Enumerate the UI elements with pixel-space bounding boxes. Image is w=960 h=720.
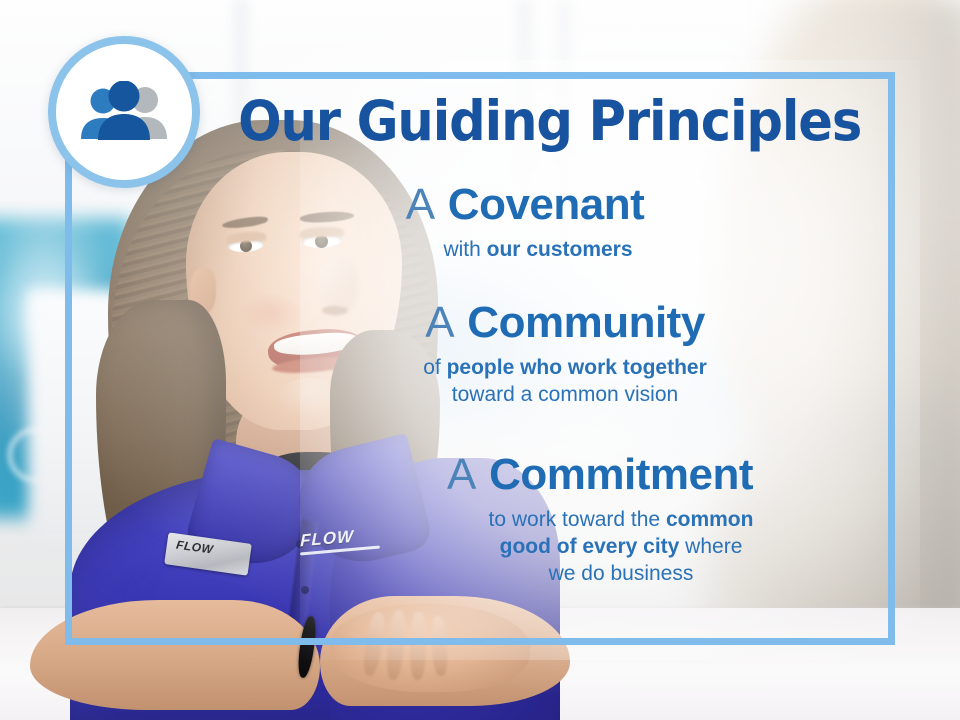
principle-community: A Community of people who work together … bbox=[255, 300, 875, 408]
subtext-line: good of every city where bbox=[347, 533, 895, 560]
subtext-part: people who work together bbox=[447, 356, 707, 379]
marketing-graphic: FLOW FLOW Our Guiding Pr bbox=[0, 0, 960, 720]
page-title: Our Guiding Principles bbox=[238, 94, 852, 149]
subtext-line: we do business bbox=[347, 560, 895, 587]
principle-subtext: with our customers bbox=[215, 236, 835, 263]
principle-covenant: A Covenant with our customers bbox=[215, 182, 835, 263]
subtext-part: where bbox=[679, 535, 742, 558]
principle-article: A bbox=[425, 298, 455, 347]
copy-block: Our Guiding Principles A Covenant with o… bbox=[65, 72, 895, 645]
subtext-line: of people who work together bbox=[255, 354, 875, 381]
subtext-line: toward a common vision bbox=[255, 381, 875, 408]
subtext-part: our customers bbox=[487, 238, 633, 261]
subtext-part: good of every city bbox=[500, 535, 680, 558]
subtext-part: common bbox=[666, 508, 754, 531]
subtext-part: of bbox=[423, 356, 446, 379]
principle-subtext: of people who work together toward a com… bbox=[255, 354, 875, 409]
subtext-part: to work toward the bbox=[489, 508, 666, 531]
principle-heading: A Community bbox=[255, 300, 875, 347]
principle-article: A bbox=[406, 180, 436, 229]
principle-keyword: Community bbox=[467, 298, 705, 347]
principle-keyword: Covenant bbox=[448, 180, 644, 229]
principle-subtext: to work toward the common good of every … bbox=[305, 506, 895, 588]
principle-article: A bbox=[447, 450, 477, 499]
principle-heading: A Covenant bbox=[215, 182, 835, 229]
principle-keyword: Commitment bbox=[489, 450, 753, 499]
subtext-line: to work toward the common bbox=[347, 506, 895, 533]
principle-heading: A Commitment bbox=[305, 452, 895, 499]
subtext-part: with bbox=[443, 238, 486, 261]
principle-commitment: A Commitment to work toward the common g… bbox=[305, 452, 895, 588]
